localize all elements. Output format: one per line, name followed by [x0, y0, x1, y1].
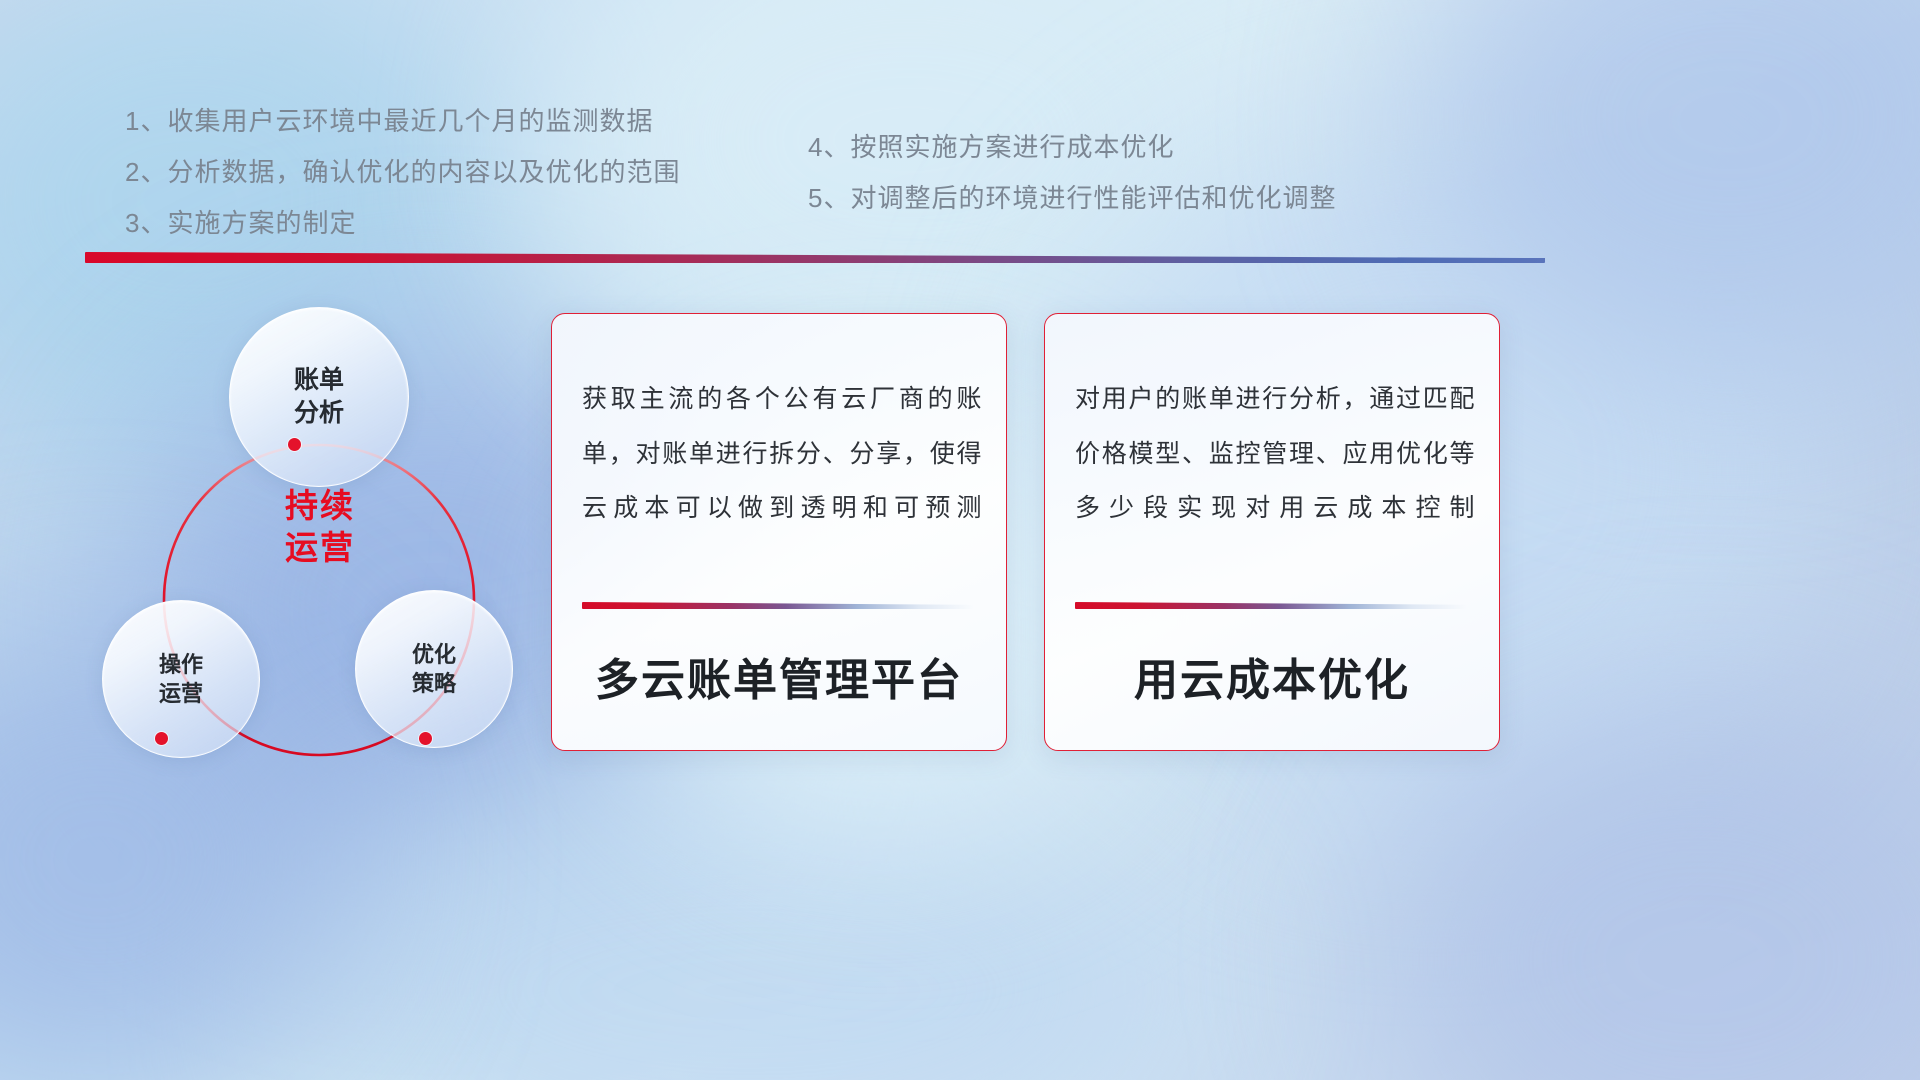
circle-node-bill-analysis-line2: 分析 — [294, 397, 344, 430]
feature-card-divider — [582, 602, 974, 609]
circle-node-bill-analysis[interactable]: 账单 分析 — [229, 307, 409, 487]
cycle-center-label-line1: 持续 — [235, 485, 405, 527]
feature-card-cost-optimization[interactable]: 对用户的账单进行分析，通过匹配价格模型、监控管理、应用优化等多少段实现对用云成本… — [1044, 313, 1500, 751]
circle-node-operations-line1: 操作 — [159, 650, 203, 679]
steps-list-left: 1、收集用户云环境中最近几个月的监测数据 2、分析数据，确认优化的内容以及优化的… — [125, 96, 680, 249]
cycle-node-dot-right — [419, 732, 432, 745]
cycle-node-dot-left — [155, 732, 168, 745]
step-item-1: 1、收集用户云环境中最近几个月的监测数据 — [125, 96, 680, 147]
feature-card-title: 多云账单管理平台 — [552, 644, 1006, 708]
circle-node-bill-analysis-line1: 账单 — [294, 364, 344, 397]
steps-list-right: 4、按照实施方案进行成本优化 5、对调整后的环境进行性能评估和优化调整 — [808, 122, 1336, 224]
step-item-2: 2、分析数据，确认优化的内容以及优化的范围 — [125, 147, 680, 198]
circle-node-optimization-policy-line2: 策略 — [412, 669, 456, 698]
step-item-4: 4、按照实施方案进行成本优化 — [808, 122, 1336, 173]
cycle-center-label: 持续 运营 — [235, 485, 405, 569]
feature-card-multicloud-billing[interactable]: 获取主流的各个公有云厂商的账单，对账单进行拆分、分享，使得云成本可以做到透明和可… — [551, 313, 1007, 751]
circle-node-optimization-policy[interactable]: 优化 策略 — [355, 590, 513, 748]
cycle-center-label-line2: 运营 — [235, 527, 405, 569]
section-divider — [85, 252, 1545, 263]
feature-card-body: 获取主流的各个公有云厂商的账单，对账单进行拆分、分享，使得云成本可以做到透明和可… — [582, 372, 982, 536]
section-divider-bar — [85, 252, 1545, 263]
cycle-node-dot-top — [288, 438, 301, 451]
circle-node-operations-line2: 运营 — [159, 679, 203, 708]
circle-node-optimization-policy-line1: 优化 — [412, 640, 456, 669]
step-item-5: 5、对调整后的环境进行性能评估和优化调整 — [808, 173, 1336, 224]
feature-card-divider — [1075, 602, 1467, 609]
feature-card-title: 用云成本优化 — [1045, 644, 1499, 708]
cycle-diagram: 账单 分析 操作 运营 优化 策略 持续 运营 — [85, 290, 555, 770]
circle-node-operations[interactable]: 操作 运营 — [102, 600, 260, 758]
step-item-3: 3、实施方案的制定 — [125, 198, 680, 249]
feature-card-body: 对用户的账单进行分析，通过匹配价格模型、监控管理、应用优化等多少段实现对用云成本… — [1075, 372, 1475, 536]
